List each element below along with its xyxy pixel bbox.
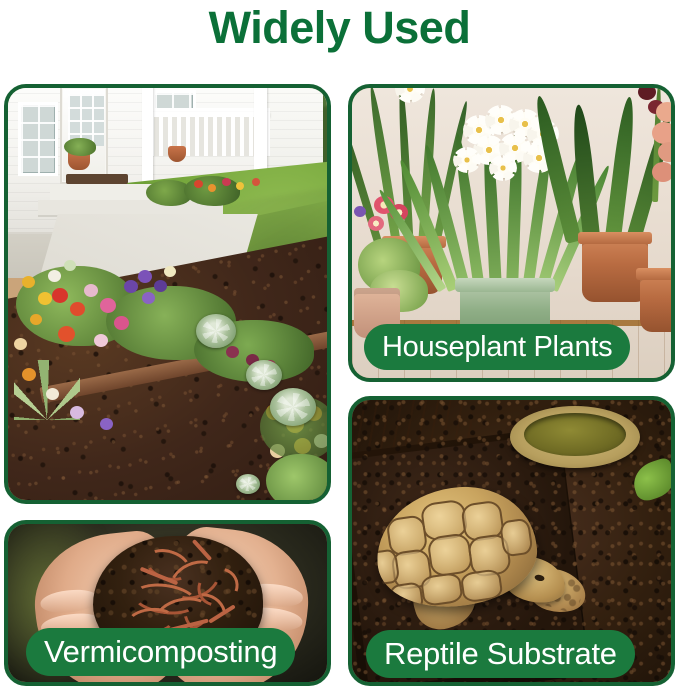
porch-post — [142, 88, 153, 192]
flower — [64, 260, 76, 271]
flower — [114, 316, 129, 330]
narcissus-flower — [492, 158, 514, 178]
potted-plant-foliage — [64, 138, 96, 156]
pot-rim — [636, 268, 671, 280]
flower — [48, 270, 61, 282]
primrose-flower — [368, 216, 384, 231]
succulent — [196, 314, 236, 348]
flower — [70, 406, 84, 419]
finger — [39, 587, 99, 615]
hyacinth-flower — [652, 122, 671, 144]
flower — [70, 302, 85, 316]
flower — [138, 270, 152, 283]
caption-houseplant-plants-label: Houseplant Plants — [382, 331, 612, 364]
flower — [52, 288, 68, 303]
primrose-flower — [354, 206, 366, 217]
caption-vermicomposting-label: Vermicomposting — [44, 634, 277, 670]
hyacinth-flower — [656, 102, 671, 122]
flower — [142, 292, 155, 304]
caption-vermicomposting: Vermicomposting — [26, 628, 295, 676]
pot-rim — [578, 232, 652, 244]
flower — [124, 280, 138, 293]
caption-houseplant-plants: Houseplant Plants — [364, 324, 630, 370]
page-title: Widely Used — [0, 2, 679, 54]
border-flower — [236, 182, 244, 190]
caption-reptile-substrate: Reptile Substrate — [366, 630, 635, 678]
water-surface — [524, 413, 626, 456]
tortoise-eye — [534, 574, 545, 582]
terracotta-pot — [640, 274, 671, 332]
border-flower — [194, 180, 203, 188]
succulent — [246, 360, 282, 390]
succulent — [270, 388, 316, 426]
border-flower — [222, 178, 231, 186]
shell-scute — [499, 518, 534, 558]
daffodil-flower — [398, 88, 422, 100]
flower — [14, 338, 27, 350]
foreground-foliage — [266, 454, 327, 500]
panel-houseplant-plants[interactable]: Houseplant Plants — [348, 84, 675, 382]
flower — [94, 334, 108, 347]
panel-gardening[interactable]: Gardening — [4, 84, 331, 504]
shell-scute — [426, 532, 473, 577]
border-flower — [208, 184, 216, 192]
flower — [100, 298, 116, 313]
hyacinth-flower — [652, 162, 671, 182]
flower — [84, 284, 98, 297]
flower — [154, 280, 167, 292]
flower — [100, 418, 113, 430]
panel-reptile-substrate[interactable]: Reptile Substrate — [348, 396, 675, 686]
flower — [30, 314, 42, 325]
caption-reptile-substrate-label: Reptile Substrate — [384, 636, 617, 672]
shell-scute — [420, 572, 464, 607]
widely-used-infographic: Widely Used — [0, 0, 679, 690]
flower — [58, 326, 75, 342]
water-dish — [510, 406, 640, 468]
panel-vermicomposting[interactable]: Vermicomposting — [4, 520, 331, 686]
narcissus-flower — [456, 150, 478, 170]
flower — [164, 266, 176, 277]
flower — [46, 388, 59, 400]
succulent — [236, 474, 260, 494]
house-window — [18, 102, 58, 176]
border-flower — [252, 178, 260, 186]
flower — [38, 292, 52, 305]
flower — [22, 368, 36, 381]
flower — [226, 346, 239, 358]
house-door — [60, 88, 108, 184]
door-mat — [66, 174, 128, 184]
flower — [22, 276, 35, 288]
gardening-photo — [8, 88, 327, 500]
